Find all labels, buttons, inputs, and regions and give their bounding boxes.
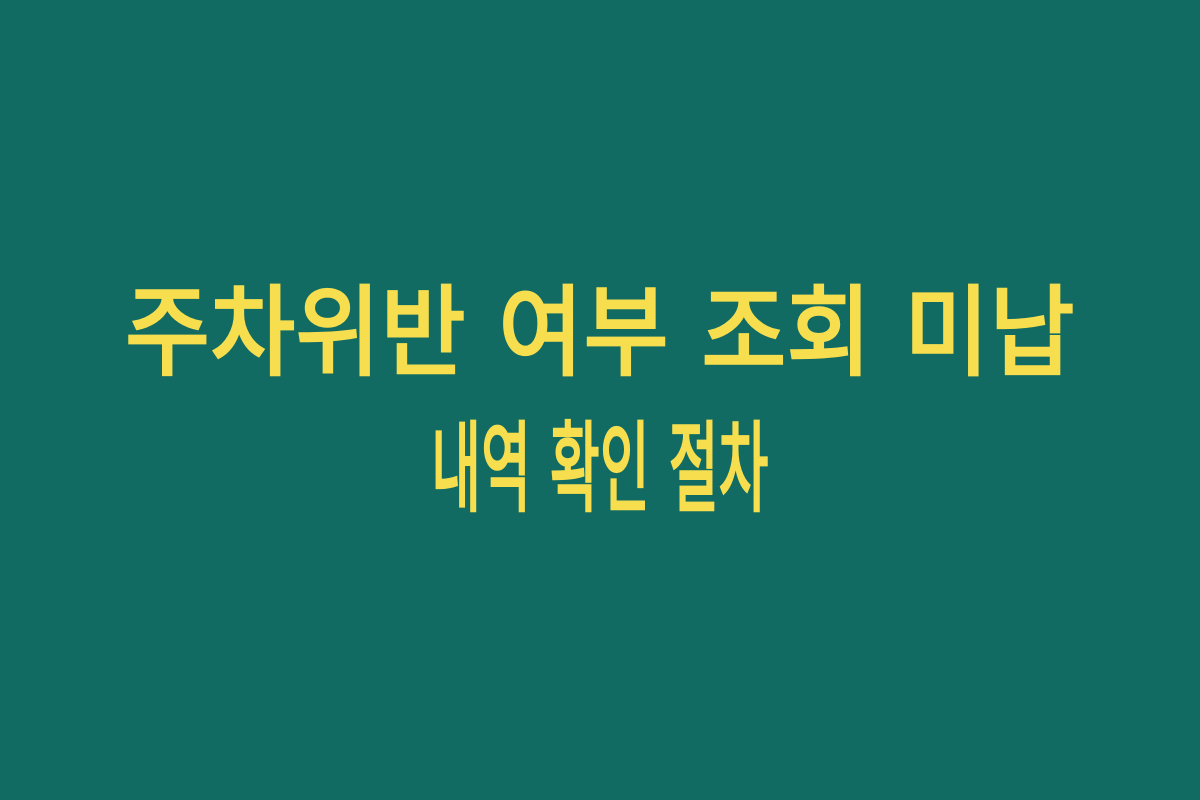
title-block: 주차위반 여부 조회 미납 내역 확인 절차 xyxy=(40,266,1160,538)
title-line-1: 주차위반 여부 조회 미납 xyxy=(79,266,1121,402)
title-line-2: 내역 확인 절차 xyxy=(295,402,905,538)
title-card: 주차위반 여부 조회 미납 내역 확인 절차 xyxy=(0,0,1200,800)
